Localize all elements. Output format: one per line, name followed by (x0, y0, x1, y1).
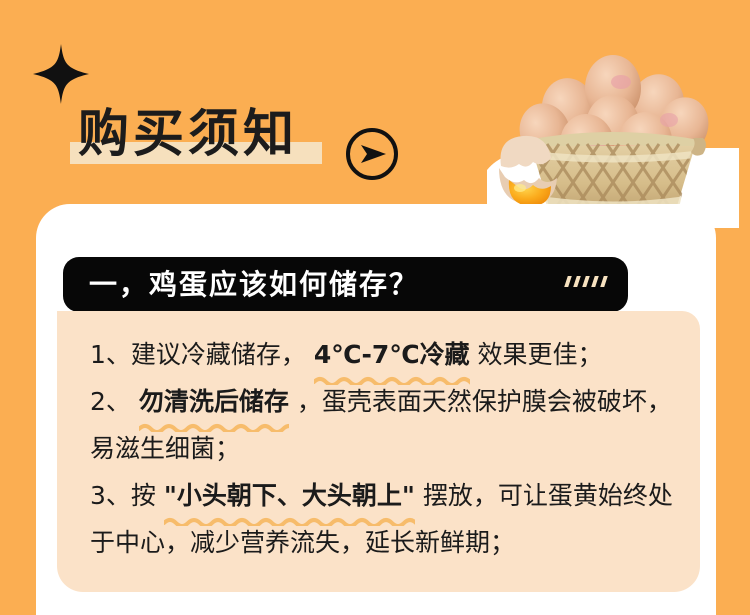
purchase-notice-poster: 购买须知 (0, 0, 750, 615)
wavy-underline-icon (164, 517, 415, 526)
tip-prefix: 1、建议冷藏储存， (90, 340, 306, 369)
wavy-underline-icon (139, 423, 289, 432)
tip-prefix: 3、按 (90, 481, 156, 510)
tip-emphasis: "小头朝下、大头朝上" (164, 472, 415, 519)
storage-tips-list: 1、建议冷藏储存， 4℃-7℃冷藏 效果更佳； 2、 勿清洗后储存 (90, 331, 682, 566)
list-item: 2、 勿清洗后储存 ，蛋壳表面天然保护膜会被破坏，易滋生细菌； (90, 378, 682, 472)
list-item: 3、按 "小头朝下、大头朝上" 摆放，可让蛋黄始终处于中心，减少营养流失，延长新… (90, 472, 682, 566)
arrow-right-circle-icon[interactable] (344, 126, 400, 182)
tip-prefix: 2、 (90, 387, 131, 416)
section-header-bar: 一，鸡蛋应该如何储存？ (63, 257, 628, 312)
section-title: 一，鸡蛋应该如何储存？ (89, 268, 419, 302)
sparkle-four-point-icon (33, 44, 89, 104)
tip-emphasis: 勿清洗后储存 (139, 378, 289, 425)
list-item: 1、建议冷藏储存， 4℃-7℃冷藏 效果更佳； (90, 331, 682, 378)
poster-header: 购买须知 (0, 0, 750, 215)
tip-emphasis: 4℃-7℃冷藏 (314, 331, 470, 378)
tip-suffix: 效果更佳； (478, 340, 603, 369)
decorative-dashes-icon (566, 276, 606, 287)
page-title-wrap: 购买须知 (78, 104, 298, 170)
egg-basket-photo (487, 48, 739, 228)
page-title: 购买须知 (78, 104, 298, 166)
storage-tips-panel: 1、建议冷藏储存， 4℃-7℃冷藏 效果更佳； 2、 勿清洗后储存 (57, 311, 700, 592)
